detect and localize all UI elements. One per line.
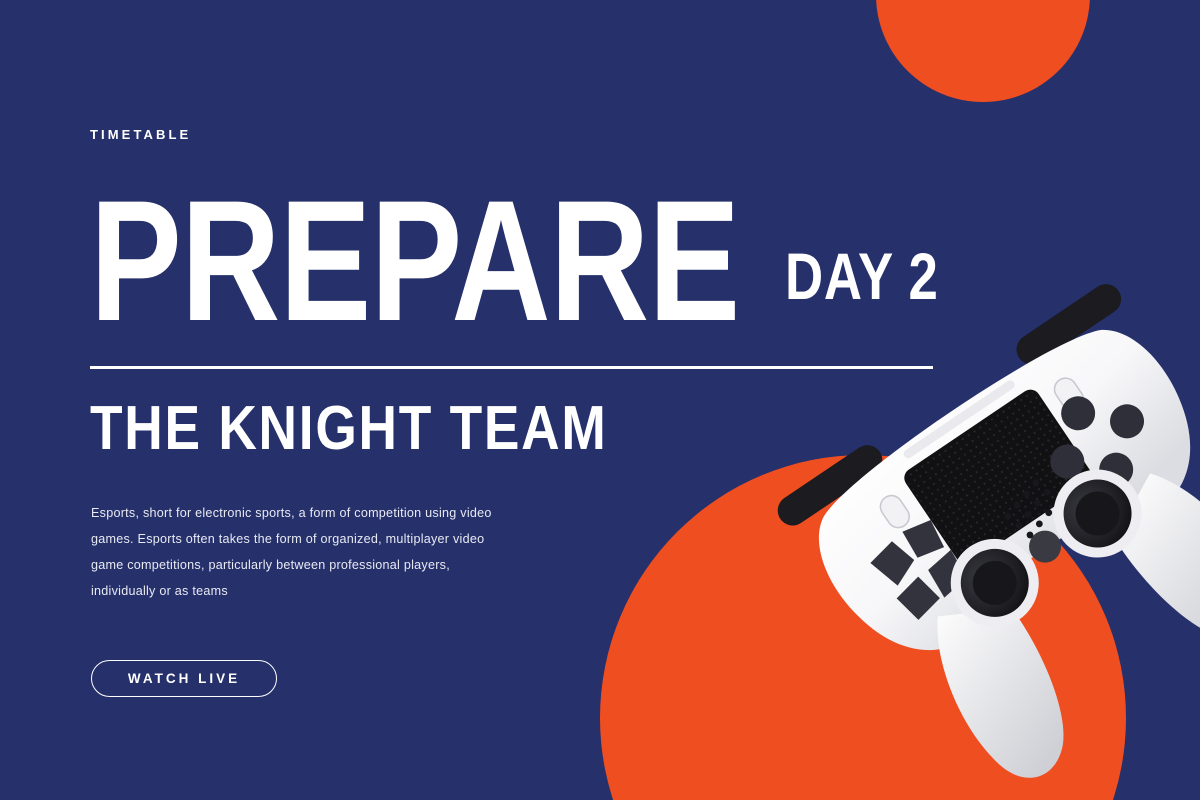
page-title: PREPARE: [90, 186, 739, 336]
banner-content: TIMETABLE PREPARE DAY 2 THE KNIGHT TEAM …: [90, 0, 950, 800]
day-badge: DAY 2: [785, 243, 939, 309]
horizontal-rule: [90, 366, 933, 369]
headline-row: PREPARE DAY 2: [90, 186, 950, 336]
eyebrow-label: TIMETABLE: [90, 128, 191, 141]
team-name: THE KNIGHT TEAM: [90, 398, 608, 460]
watch-live-button[interactable]: WATCH LIVE: [91, 660, 277, 697]
esports-banner: TIMETABLE PREPARE DAY 2 THE KNIGHT TEAM …: [0, 0, 1200, 800]
description-text: Esports, short for electronic sports, a …: [91, 500, 511, 604]
